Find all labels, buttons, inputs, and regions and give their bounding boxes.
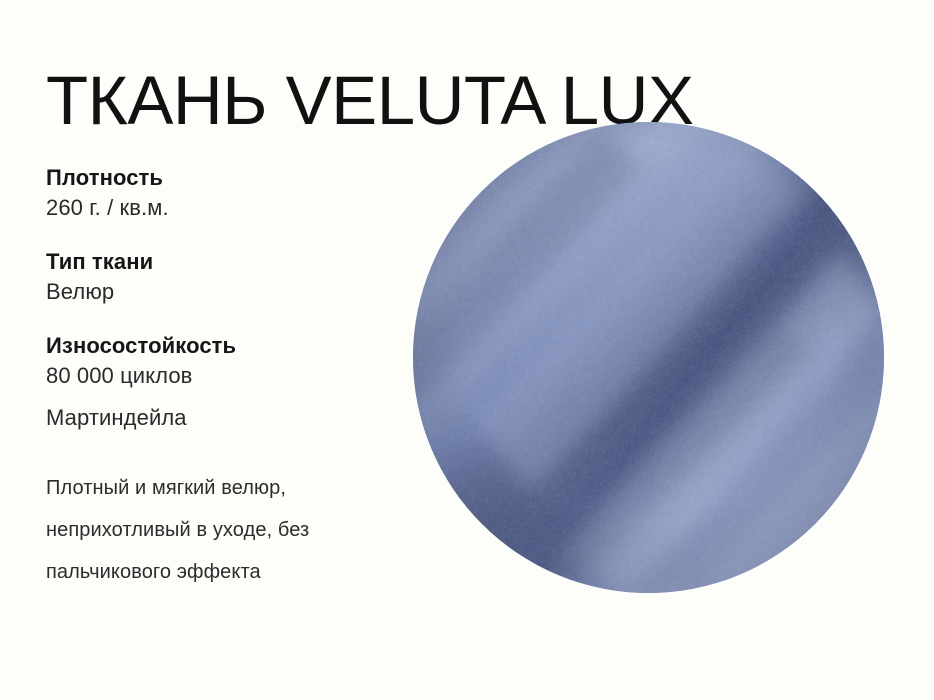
page-title: ТКАНЬ VELUTA LUX xyxy=(46,58,906,144)
spec-value-abrasion-resistance-unit: Мартиндейла xyxy=(46,403,426,433)
spec-item-density: Плотность 260 г. / кв.м. xyxy=(46,163,426,223)
fabric-vignette xyxy=(413,122,884,593)
spec-label-abrasion-resistance: Износостойкость xyxy=(46,331,426,361)
infographic-page: ТКАНЬ VELUTA LUX Плотность 260 г. / кв.м… xyxy=(0,0,934,700)
spec-item-abrasion-resistance: Износостойкость 80 000 циклов Мартиндейл… xyxy=(46,331,426,433)
spec-value-density: 260 г. / кв.м. xyxy=(46,193,426,223)
specifications-list: Плотность 260 г. / кв.м. Тип ткани Велюр… xyxy=(46,163,426,433)
fabric-swatch-graphic xyxy=(413,122,884,593)
fabric-swatch-image xyxy=(413,122,884,593)
spec-label-fabric-type: Тип ткани xyxy=(46,247,426,277)
spec-value-abrasion-resistance: 80 000 циклов xyxy=(46,361,426,391)
spec-item-fabric-type: Тип ткани Велюр xyxy=(46,247,426,307)
spec-value-fabric-type: Велюр xyxy=(46,277,426,307)
fabric-description: Плотный и мягкий велюр, неприхотливый в … xyxy=(46,467,418,593)
spec-label-density: Плотность xyxy=(46,163,426,193)
